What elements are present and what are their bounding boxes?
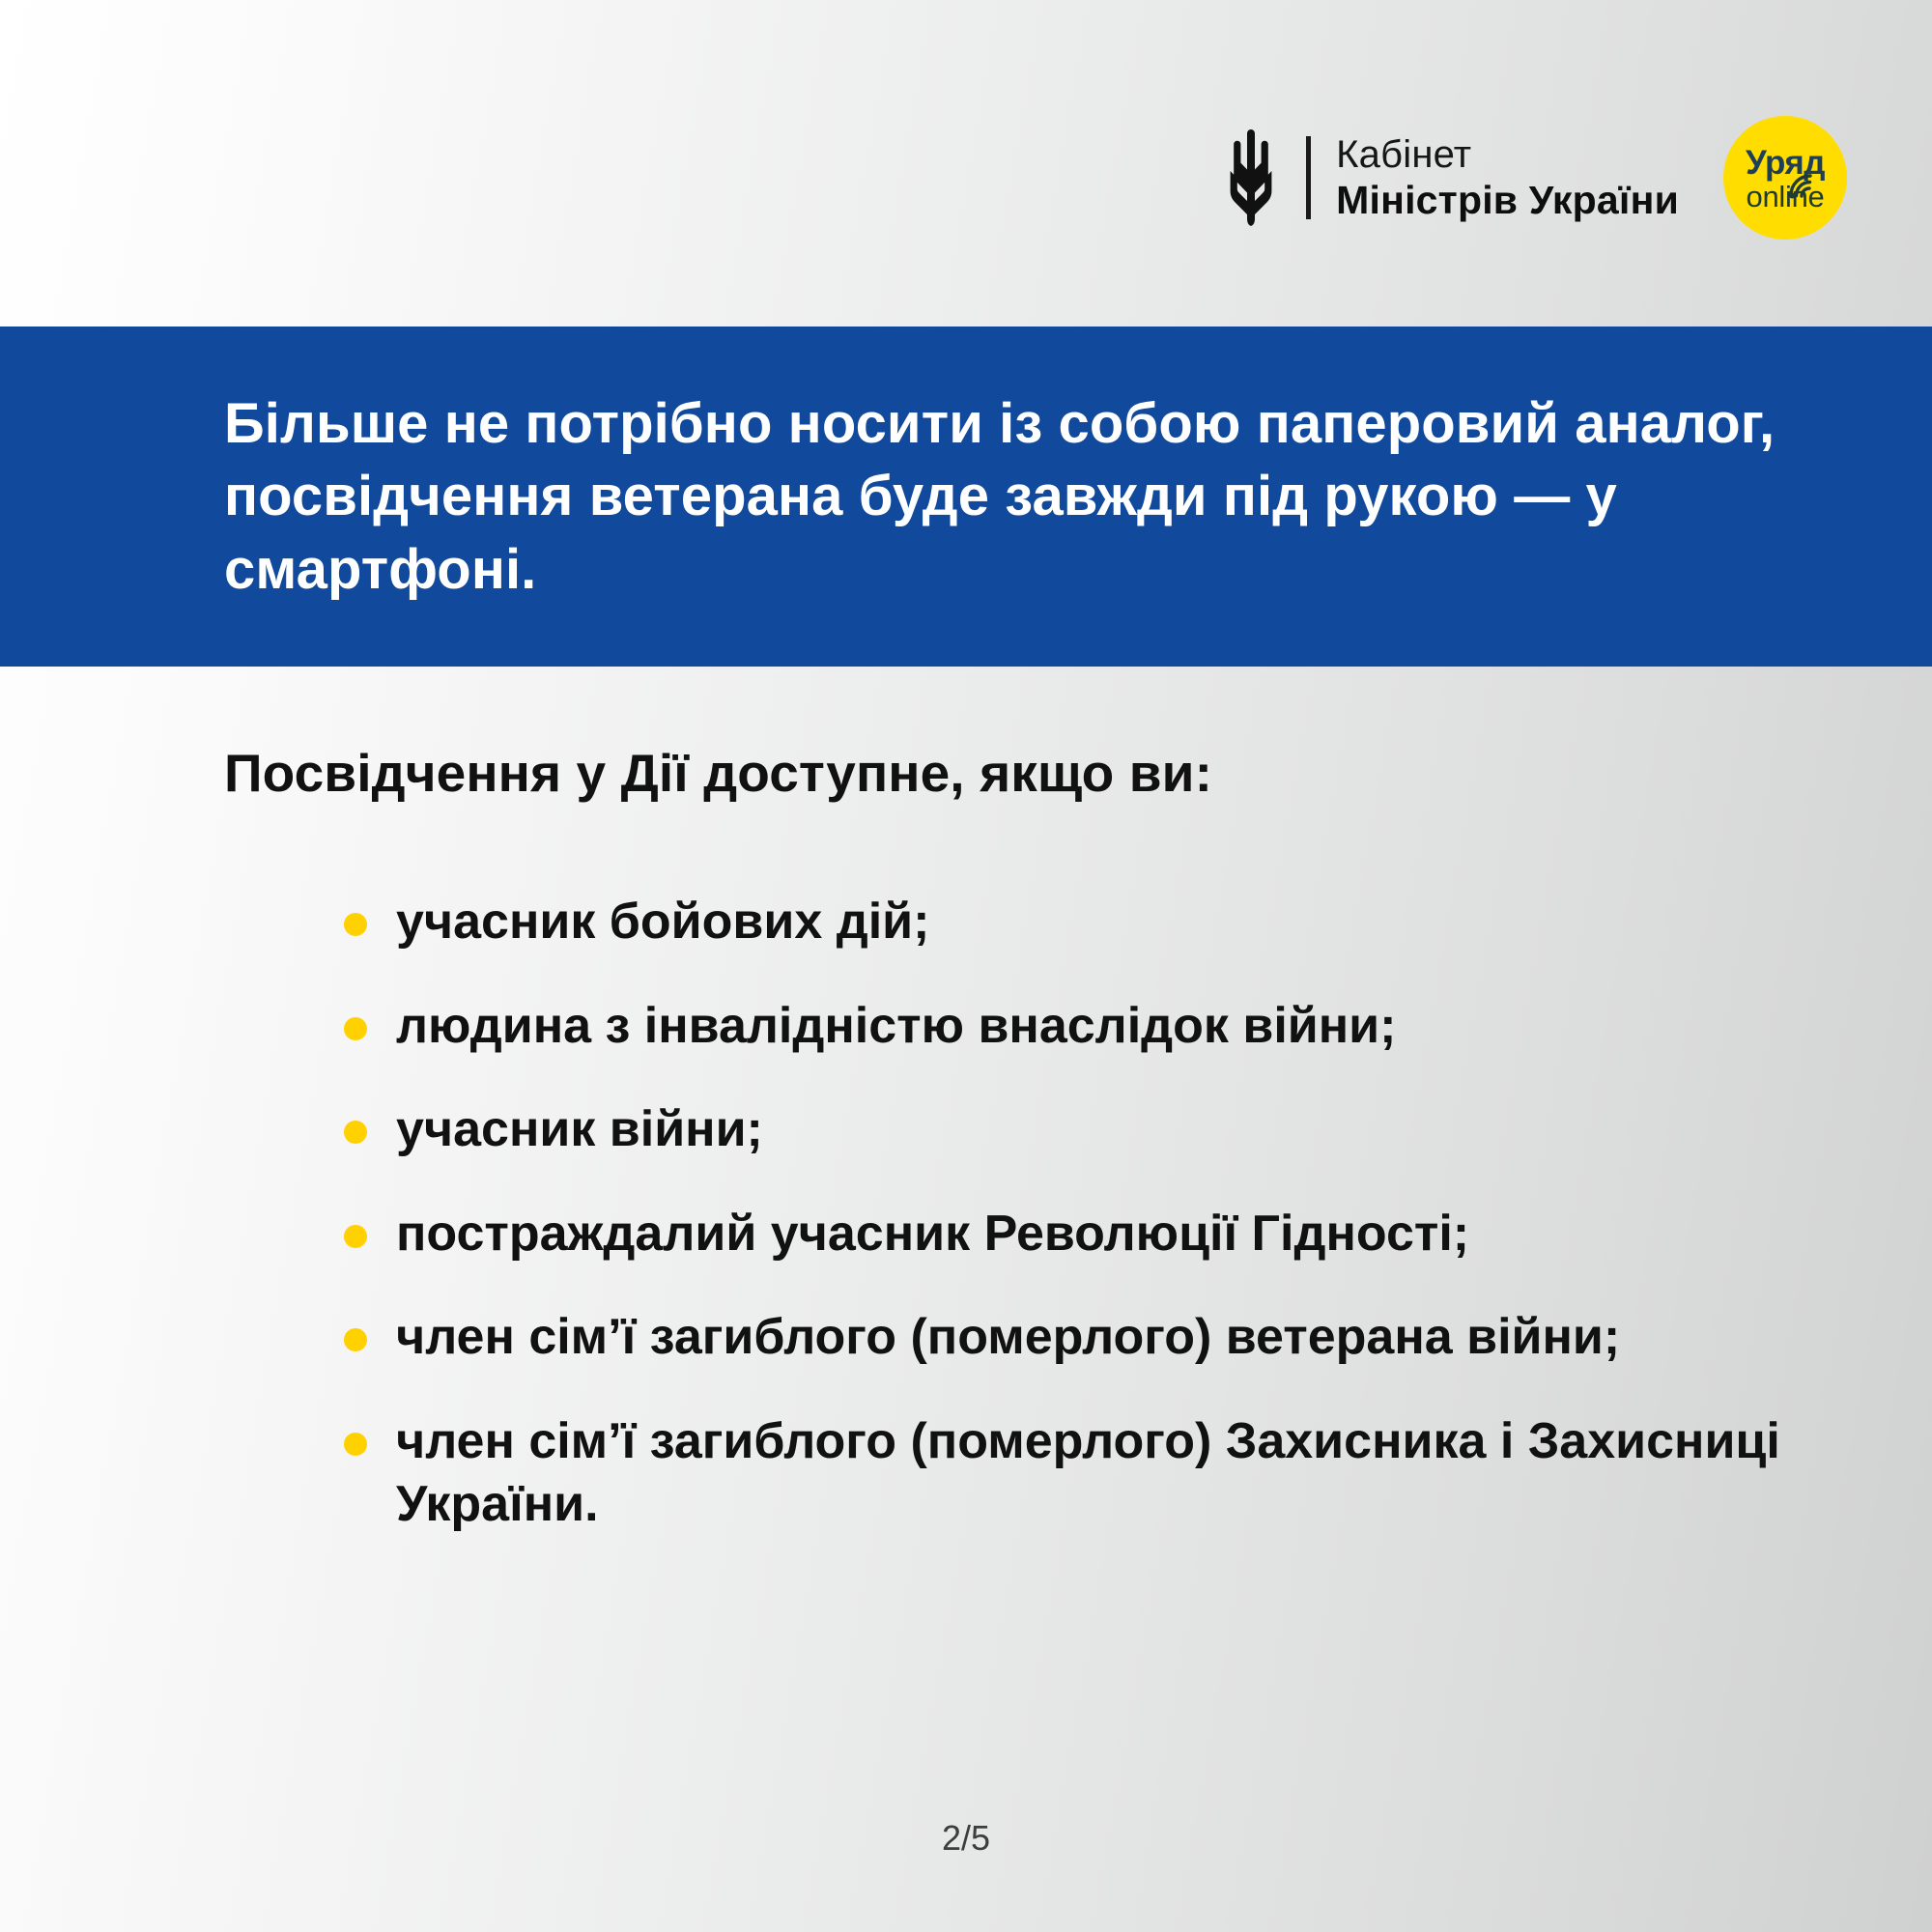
highlight-banner: Більше не потрібно носити із собою папер… <box>0 327 1932 667</box>
list-item: учасник війни; <box>340 1098 1847 1162</box>
list-item: член сім’ї загиблого (померлого) Захисни… <box>340 1410 1847 1537</box>
ukraine-trident-icon <box>1221 129 1281 226</box>
list-item: учасник бойових дій; <box>340 891 1847 954</box>
bullet-dot-icon <box>344 1225 367 1248</box>
eligibility-bullet-list: учасник бойових дій; людина з інвалідніс… <box>340 891 1847 1577</box>
bullet-dot-icon <box>344 1328 367 1351</box>
logo-block: Кабінет Міністрів України Уряд online <box>1221 116 1847 240</box>
lead-heading: Посвідчення у Дії доступне, якщо ви: <box>224 742 1212 804</box>
header: Кабінет Міністрів України Уряд online <box>0 0 1932 327</box>
list-item: постраждалий учасник Революції Гідності; <box>340 1203 1847 1266</box>
cabinet-label-line2: Міністрів України <box>1336 181 1679 220</box>
list-item-label: постраждалий учасник Революції Гідності; <box>396 1206 1469 1262</box>
cabinet-of-ministers-wordmark: Кабінет Міністрів України <box>1336 135 1679 220</box>
list-item-label: учасник війни; <box>396 1101 763 1157</box>
cabinet-label-line1: Кабінет <box>1336 135 1679 174</box>
banner-text: Більше не потрібно носити із собою папер… <box>224 387 1816 606</box>
bullet-dot-icon <box>344 1433 367 1456</box>
cabinet-of-ministers-logo: Кабінет Міністрів України <box>1221 129 1679 226</box>
bullet-dot-icon <box>344 1121 367 1144</box>
list-item: людина з інвалідністю внаслідок війни; <box>340 995 1847 1059</box>
bullet-dot-icon <box>344 913 367 936</box>
list-item-label: член сім’ї загиблого (померлого) ветеран… <box>396 1309 1620 1365</box>
list-item-label: член сім’ї загиблого (померлого) Захисни… <box>396 1413 1780 1533</box>
list-item-label: людина з інвалідністю внаслідок війни; <box>396 998 1396 1054</box>
list-item: член сім’ї загиблого (померлого) ветеран… <box>340 1306 1847 1370</box>
logo-divider <box>1306 136 1311 219</box>
wifi-signal-icon <box>1787 170 1820 199</box>
list-item-label: учасник бойових дій; <box>396 894 929 950</box>
slide-canvas: Кабінет Міністрів України Уряд online <box>0 0 1932 1932</box>
uryad-online-badge: Уряд online <box>1723 116 1847 240</box>
page-indicator: 2/5 <box>0 1818 1932 1859</box>
bullet-dot-icon <box>344 1017 367 1040</box>
